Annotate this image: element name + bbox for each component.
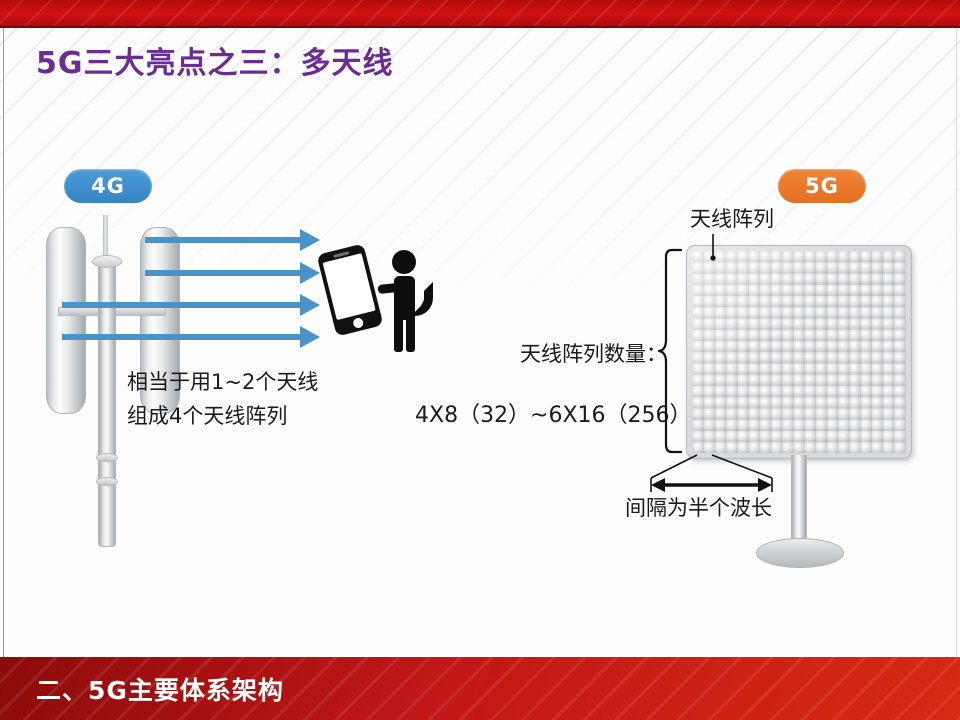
phone-home-button: [352, 317, 364, 329]
tower-mast-ring-upper: [96, 453, 118, 462]
antenna-pole-base: [756, 538, 844, 568]
spacing-dimension-arrow: [651, 478, 772, 492]
signal-arrow-3: [62, 300, 320, 310]
left-caption-line-2: 组成4个天线阵列: [127, 399, 318, 433]
antenna-panel: [686, 245, 912, 459]
signal-arrow-1: [145, 235, 320, 245]
slide-root: 5G三大亮点之三：多天线 4G 相当于用1~2个天线 组成4个天: [0, 0, 960, 720]
person-head: [392, 250, 416, 274]
signal-arrow-4: [62, 332, 320, 342]
person-leg-left: [394, 314, 403, 352]
spacing-leader-left: [651, 455, 697, 478]
section-footer-text: 二、5G主要体系架构: [36, 671, 284, 707]
smartphone-icon: [317, 243, 384, 336]
phone-screen: [323, 253, 376, 320]
slide-left-border: [3, 26, 4, 688]
antenna-element-grid: [693, 251, 905, 453]
spacing-label: 间隔为半个波长: [625, 492, 772, 522]
person-icon: [375, 250, 435, 350]
tower-mast-cap: [92, 255, 122, 268]
tower-antenna-left: [46, 227, 86, 414]
section-footer-bar: 二、5G主要体系架构: [0, 657, 960, 720]
array-range-label: 4X8（32）~6X16（256）: [415, 397, 692, 429]
person-arm-right: [411, 282, 433, 316]
slide-right-border: [956, 26, 957, 688]
antenna-array-label: 天线阵列: [690, 203, 774, 233]
badge-5g: 5G: [778, 169, 866, 203]
page-title: 5G三大亮点之三：多天线: [36, 38, 394, 82]
signal-arrow-2: [145, 268, 320, 278]
array-count-label: 天线阵列数量：: [520, 338, 667, 368]
left-caption-line-1: 相当于用1~2个天线: [127, 365, 318, 399]
person-leg-right: [406, 314, 415, 352]
top-red-bar: [0, 0, 960, 28]
left-caption: 相当于用1~2个天线 组成4个天线阵列: [127, 365, 318, 433]
tower-mast-ring-lower: [96, 477, 118, 486]
badge-4g: 4G: [64, 169, 152, 203]
